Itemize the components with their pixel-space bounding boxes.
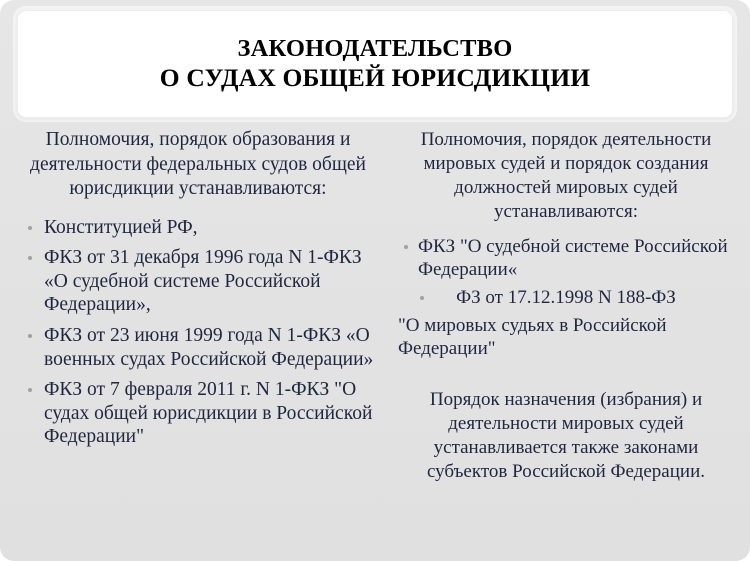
- right-column-closing: Порядок назначения (избрания) и деятельн…: [398, 388, 734, 484]
- left-column-bullet-list: Конституцией РФ, ФКЗ от 31 декабря 1996 …: [22, 216, 374, 449]
- presentation-slide: ЗАКОНОДАТЕЛЬСТВО О СУДАХ ОБЩЕЙ ЮРИСДИКЦИ…: [0, 0, 750, 561]
- list-item: ФКЗ "О судебной системе Российской Федер…: [398, 235, 734, 281]
- title-line-1: ЗАКОНОДАТЕЛЬСТВО: [160, 35, 591, 63]
- right-column-note: "О мировых судьях в Российской Федерации…: [398, 314, 734, 360]
- title-banner: ЗАКОНОДАТЕЛЬСТВО О СУДАХ ОБЩЕЙ ЮРИСДИКЦИ…: [17, 10, 733, 118]
- left-column: Полномочия, порядок образования и деятел…: [0, 128, 392, 456]
- list-item: ФКЗ от 23 июня 1999 года N 1-ФКЗ «О воен…: [22, 324, 374, 371]
- left-column-lead: Полномочия, порядок образования и деятел…: [22, 128, 374, 202]
- list-item: ФЗ от 17.12.1998 N 188-ФЗ: [398, 286, 734, 309]
- list-item: ФКЗ от 31 декабря 1996 года N 1-ФКЗ «О с…: [22, 246, 374, 317]
- page-title: ЗАКОНОДАТЕЛЬСТВО О СУДАХ ОБЩЕЙ ЮРИСДИКЦИ…: [142, 35, 609, 93]
- list-item: Конституцией РФ,: [22, 216, 374, 240]
- right-column-bullet-list: ФКЗ "О судебной системе Российской Федер…: [398, 235, 734, 310]
- list-item: ФКЗ от 7 февраля 2011 г. N 1-ФКЗ "О суда…: [22, 378, 374, 449]
- right-column-lead: Полномочия, порядок деятельности мировых…: [398, 128, 734, 225]
- content-columns: Полномочия, порядок образования и деятел…: [0, 128, 750, 484]
- title-line-2: О СУДАХ ОБЩЕЙ ЮРИСДИКЦИИ: [160, 63, 591, 93]
- right-column: Полномочия, порядок деятельности мировых…: [392, 128, 750, 484]
